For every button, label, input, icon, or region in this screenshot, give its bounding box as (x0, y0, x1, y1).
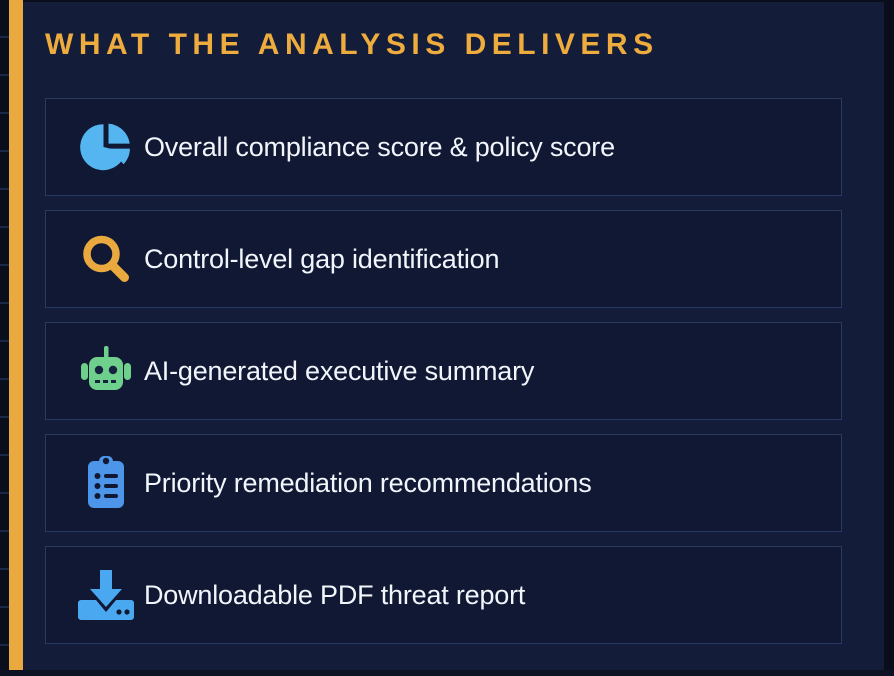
left-gutter (0, 0, 9, 676)
clipboard-list-icon (68, 454, 144, 512)
gold-accent-bar (9, 0, 23, 670)
list-item-label: Overall compliance score & policy score (144, 132, 615, 163)
slide-canvas: WHAT THE ANALYSIS DELIVERS Overall compl… (0, 0, 894, 676)
list-item[interactable]: AI-generated executive summary (45, 322, 842, 420)
page-title: WHAT THE ANALYSIS DELIVERS (45, 28, 659, 62)
magnifier-icon (68, 230, 144, 288)
deliverables-list: Overall compliance score & policy score … (45, 98, 842, 658)
list-item[interactable]: Control-level gap identification (45, 210, 842, 308)
list-item-label: Priority remediation recommendations (144, 468, 592, 499)
list-item[interactable]: Priority remediation recommendations (45, 434, 842, 532)
list-item-label: Control-level gap identification (144, 244, 499, 275)
right-edge-strip (884, 0, 894, 676)
bottom-edge-strip (0, 670, 894, 676)
download-tray-icon-row[interactable]: Downloadable PDF threat report (45, 546, 842, 644)
robot-icon (68, 342, 144, 400)
download-tray-icon (68, 566, 144, 624)
list-item-label: AI-generated executive summary (144, 356, 534, 387)
content-panel: WHAT THE ANALYSIS DELIVERS Overall compl… (23, 2, 884, 672)
list-item[interactable]: Overall compliance score & policy score (45, 98, 842, 196)
pie-chart-icon (68, 118, 144, 176)
list-item-label: Downloadable PDF threat report (144, 580, 525, 611)
